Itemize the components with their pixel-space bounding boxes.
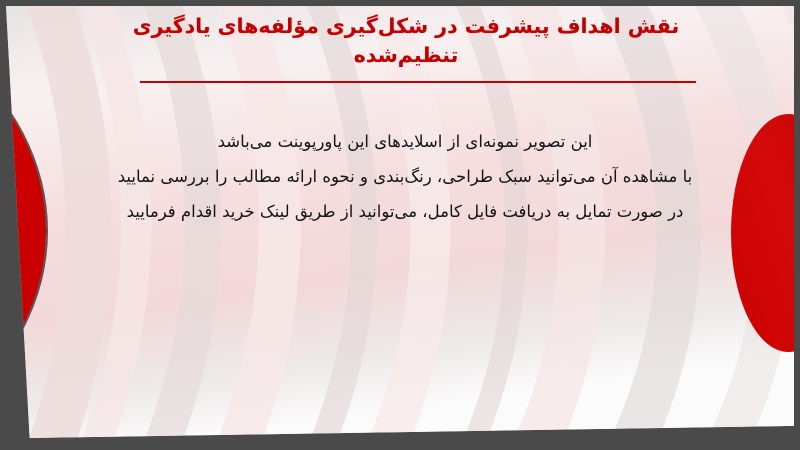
title-line-2: تنظیم‌شده	[6, 41, 794, 70]
presentation-slide: نقش اهداف پیشرفت در شکل‌گیری مؤلفه‌های ی…	[0, 0, 800, 450]
slide-content-panel: نقش اهداف پیشرفت در شکل‌گیری مؤلفه‌های ی…	[6, 6, 794, 438]
body-line-2: با مشاهده آن می‌توانید سبک طراحی، رنگ‌بن…	[46, 159, 764, 194]
slide-body-text: این تصویر نمونه‌ای از اسلایدهای این پاور…	[46, 124, 764, 229]
title-divider-rule	[140, 81, 696, 83]
body-line-1: این تصویر نمونه‌ای از اسلایدهای این پاور…	[46, 124, 764, 159]
body-line-3: در صورت تمایل به دریافت فایل کامل، می‌تو…	[46, 194, 764, 229]
title-line-1: نقش اهداف پیشرفت در شکل‌گیری مؤلفه‌های ی…	[6, 12, 794, 41]
slide-title: نقش اهداف پیشرفت در شکل‌گیری مؤلفه‌های ی…	[6, 12, 794, 70]
